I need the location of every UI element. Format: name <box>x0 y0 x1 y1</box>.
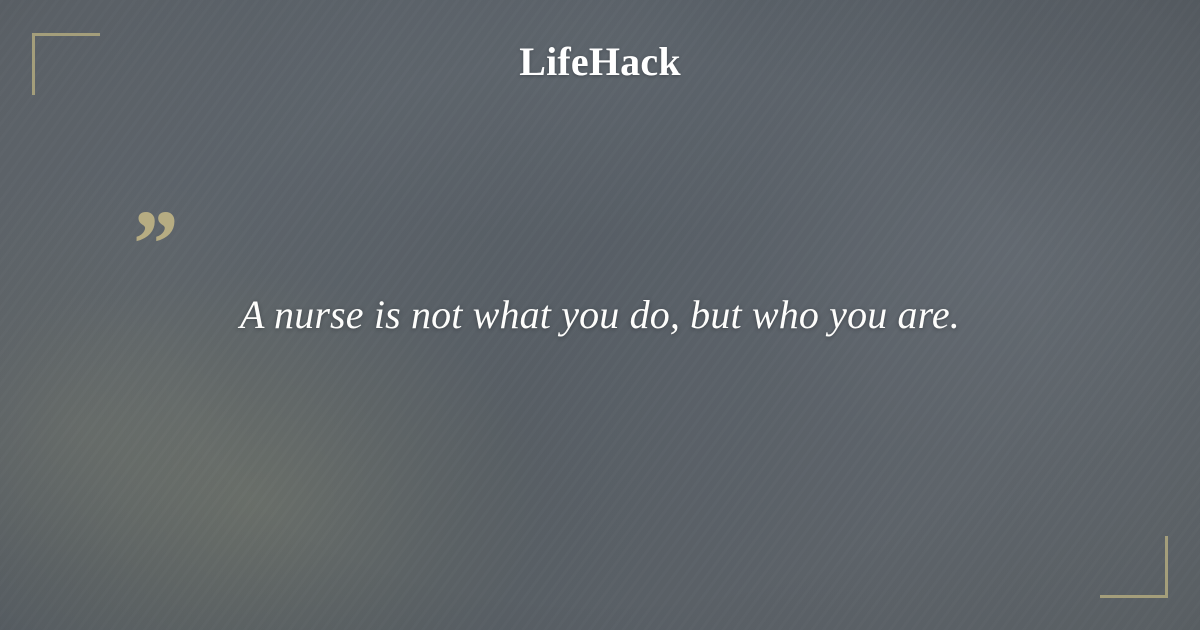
brand-logo: LifeHack <box>0 40 1200 84</box>
quotation-mark-icon: ” <box>128 196 176 292</box>
corner-bracket-bottom-right-icon <box>1100 536 1168 598</box>
quote-text: A nurse is not what you do, but who you … <box>240 288 960 342</box>
quote-container: A nurse is not what you do, but who you … <box>0 288 1200 342</box>
quote-card: LifeHack ” A nurse is not what you do, b… <box>0 0 1200 630</box>
